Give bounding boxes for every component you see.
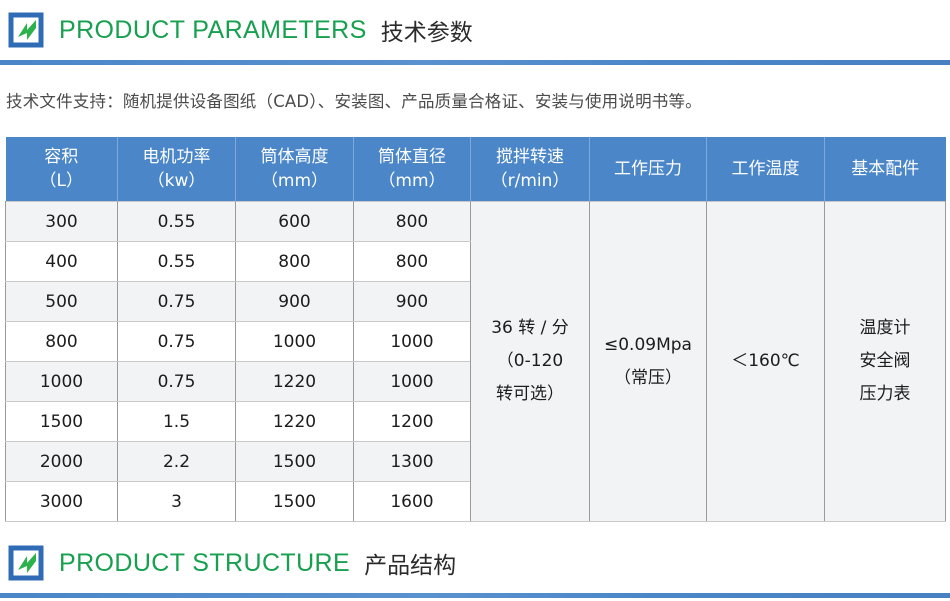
cell-height: 1500 bbox=[236, 482, 354, 522]
cell-power: 0.75 bbox=[118, 322, 236, 362]
brand-logo-icon bbox=[7, 11, 45, 49]
column-header-stirring-speed: 搅拌转速 （r/min） bbox=[471, 137, 590, 202]
column-header-unit: （r/min） bbox=[473, 169, 587, 193]
section-title-en: PRODUCT STRUCTURE bbox=[59, 549, 350, 578]
cell-diameter: 1000 bbox=[354, 322, 471, 362]
cell-power: 0.55 bbox=[118, 242, 236, 282]
product-parameters-page: PRODUCT PARAMETERS 技术参数 技术文件支持：随机提供设备图纸（… bbox=[0, 0, 950, 601]
table-row: 300 0.55 600 800 36 转 / 分 （0-120 转可选） ≤0… bbox=[6, 202, 946, 242]
cell-volume: 300 bbox=[6, 202, 118, 242]
speed-line-3: 转可选） bbox=[473, 378, 587, 411]
cell-power: 1.5 bbox=[118, 402, 236, 442]
column-header-working-temperature: 工作温度 bbox=[707, 137, 825, 202]
cell-height: 1000 bbox=[236, 322, 354, 362]
cell-power: 0.75 bbox=[118, 282, 236, 322]
section-header-product-parameters: PRODUCT PARAMETERS 技术参数 bbox=[0, 0, 950, 66]
cell-height: 1220 bbox=[236, 362, 354, 402]
column-header-main: 工作压力 bbox=[614, 159, 682, 179]
accessory-line-2: 安全阀 bbox=[827, 345, 943, 378]
cell-power: 3 bbox=[118, 482, 236, 522]
table-header-row: 容积 （L） 电机功率 （kw） 筒体高度 （mm） 筒体直径 （mm） 搅拌转… bbox=[6, 137, 946, 202]
accessory-line-1: 温度计 bbox=[827, 312, 943, 345]
column-header-unit: （L） bbox=[8, 169, 116, 193]
cell-volume: 1500 bbox=[6, 402, 118, 442]
section-title-cn: 产品结构 bbox=[364, 546, 456, 580]
column-header-unit: （mm） bbox=[356, 169, 468, 193]
column-header-barrel-diameter: 筒体直径 （mm） bbox=[354, 137, 471, 202]
cell-volume: 500 bbox=[6, 282, 118, 322]
technical-documents-note: 技术文件支持：随机提供设备图纸（CAD）、安装图、产品质量合格证、安装与使用说明… bbox=[6, 88, 702, 112]
column-header-unit: （kw） bbox=[120, 169, 233, 193]
column-header-basic-accessories: 基本配件 bbox=[825, 137, 946, 202]
column-header-main: 筒体高度 bbox=[261, 147, 329, 167]
column-header-main: 搅拌转速 bbox=[496, 147, 564, 167]
column-header-barrel-height: 筒体高度 （mm） bbox=[236, 137, 354, 202]
cell-volume: 2000 bbox=[6, 442, 118, 482]
cell-working-pressure: ≤0.09Mpa （常压） bbox=[590, 202, 707, 522]
cell-stirring-speed: 36 转 / 分 （0-120 转可选） bbox=[471, 202, 590, 522]
column-header-main: 容积 bbox=[44, 147, 78, 167]
cell-volume: 400 bbox=[6, 242, 118, 282]
cell-diameter: 1200 bbox=[354, 402, 471, 442]
column-header-motor-power: 电机功率 （kw） bbox=[118, 137, 236, 202]
column-header-unit: （mm） bbox=[238, 169, 351, 193]
section-title-cn: 技术参数 bbox=[381, 13, 473, 47]
specifications-table: 容积 （L） 电机功率 （kw） 筒体高度 （mm） 筒体直径 （mm） 搅拌转… bbox=[5, 137, 946, 522]
section-divider-rule bbox=[0, 593, 950, 598]
cell-diameter: 1600 bbox=[354, 482, 471, 522]
temperature-line-1: ＜160℃ bbox=[709, 345, 822, 378]
speed-line-2: （0-120 bbox=[473, 345, 587, 378]
cell-basic-accessories: 温度计 安全阀 压力表 bbox=[825, 202, 946, 522]
column-header-main: 基本配件 bbox=[851, 159, 919, 179]
cell-diameter: 800 bbox=[354, 242, 471, 282]
cell-volume: 1000 bbox=[6, 362, 118, 402]
cell-diameter: 900 bbox=[354, 282, 471, 322]
brand-logo-icon bbox=[7, 544, 45, 582]
cell-volume: 3000 bbox=[6, 482, 118, 522]
cell-diameter: 1000 bbox=[354, 362, 471, 402]
cell-height: 1220 bbox=[236, 402, 354, 442]
column-header-working-pressure: 工作压力 bbox=[590, 137, 707, 202]
section-header-product-structure: PRODUCT STRUCTURE 产品结构 bbox=[0, 533, 950, 599]
column-header-main: 工作温度 bbox=[732, 159, 800, 179]
accessory-line-3: 压力表 bbox=[827, 378, 943, 411]
cell-height: 600 bbox=[236, 202, 354, 242]
column-header-main: 电机功率 bbox=[143, 147, 211, 167]
cell-height: 1500 bbox=[236, 442, 354, 482]
pressure-line-2: （常压） bbox=[592, 362, 704, 395]
pressure-line-1: ≤0.09Mpa bbox=[592, 329, 704, 362]
section-title-en: PRODUCT PARAMETERS bbox=[59, 16, 367, 45]
column-header-volume: 容积 （L） bbox=[6, 137, 118, 202]
cell-volume: 800 bbox=[6, 322, 118, 362]
cell-diameter: 1300 bbox=[354, 442, 471, 482]
cell-power: 2.2 bbox=[118, 442, 236, 482]
cell-working-temperature: ＜160℃ bbox=[707, 202, 825, 522]
speed-line-1: 36 转 / 分 bbox=[473, 312, 587, 345]
section-divider-rule bbox=[0, 60, 950, 65]
column-header-main: 筒体直径 bbox=[378, 147, 446, 167]
cell-power: 0.55 bbox=[118, 202, 236, 242]
cell-power: 0.75 bbox=[118, 362, 236, 402]
cell-height: 800 bbox=[236, 242, 354, 282]
cell-height: 900 bbox=[236, 282, 354, 322]
cell-diameter: 800 bbox=[354, 202, 471, 242]
